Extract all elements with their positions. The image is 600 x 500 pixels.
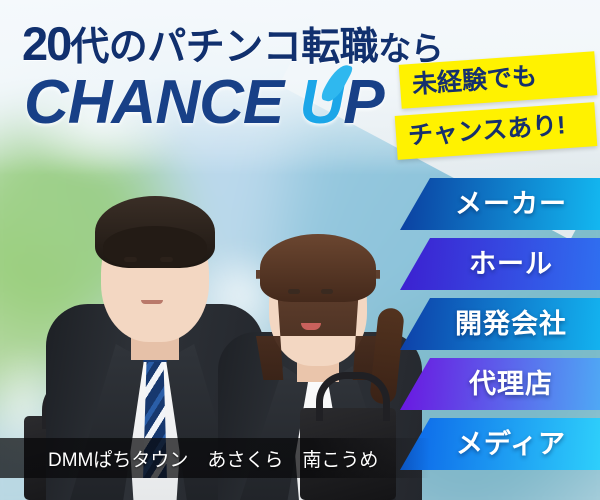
caption-bar: DMMぱちタウン あさくら 南こうめ: [0, 438, 430, 478]
advertisement-banner: 20代のパチンコ転職なら CHANCE UP 未経験でも チャンスあり! メーカ…: [0, 0, 600, 500]
caption-text: DMMぱちタウン あさくら 南こうめ: [0, 445, 378, 472]
logo-letter-u: U: [299, 72, 343, 134]
logo-word-chance: CHANCE: [24, 68, 283, 137]
woman-eye-left: [288, 289, 300, 294]
menu-item-maker-label: メーカー: [433, 191, 567, 218]
woman-hair: [260, 234, 376, 302]
promo-badge-line-1: 未経験でも: [399, 51, 598, 109]
menu-item-agency-label: 代理店: [447, 371, 553, 398]
woman-eye-right: [321, 289, 333, 294]
menu-item-agency[interactable]: 代理店: [400, 358, 600, 410]
headline-main: 代のパチンコ転職: [70, 26, 378, 69]
menu-item-hall-label: ホール: [447, 251, 553, 278]
menu-item-developer-label: 開発会社: [433, 311, 567, 338]
logo-chance-up: CHANCE UP: [24, 72, 384, 134]
headline: 20代のパチンコ転職なら: [22, 20, 443, 67]
promo-badge-line-2: チャンスあり!: [395, 102, 598, 160]
promo-badge: 未経験でも チャンスあり!: [400, 58, 596, 153]
menu-item-media-label: メディア: [434, 431, 566, 458]
category-menu: メーカー ホール 開発会社 代理店 メディア: [400, 178, 600, 478]
man-hair: [95, 196, 215, 268]
menu-item-developer[interactable]: 開発会社: [400, 298, 600, 350]
menu-item-media[interactable]: メディア: [400, 418, 600, 470]
logo-letter-p: P: [343, 68, 383, 137]
man-mouth: [141, 300, 163, 304]
menu-item-hall[interactable]: ホール: [400, 238, 600, 290]
headline-number: 20: [22, 17, 70, 70]
man-eye-left: [124, 257, 137, 262]
menu-item-maker[interactable]: メーカー: [400, 178, 600, 230]
man-eye-right: [160, 257, 173, 262]
